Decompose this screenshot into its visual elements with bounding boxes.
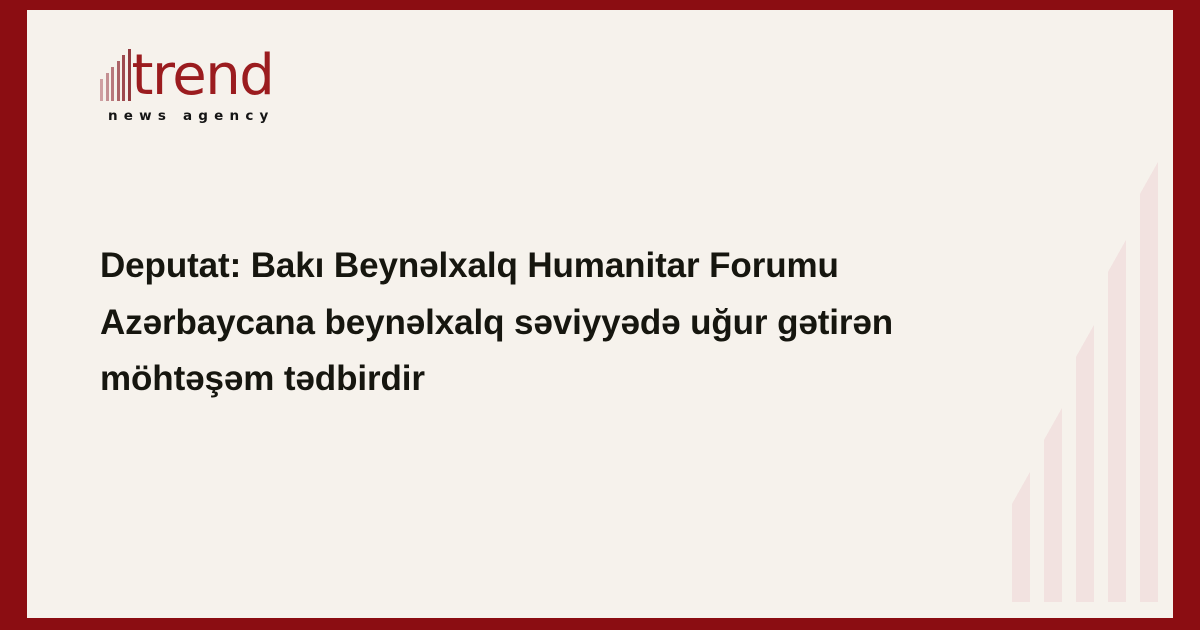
- logo-wordmark: trend: [132, 50, 274, 102]
- watermark-bar: [1140, 194, 1158, 602]
- card-canvas: trend news agency Deputat: Bakı Beynəlxa…: [27, 10, 1173, 618]
- watermark-bar: [1012, 504, 1030, 602]
- watermark-bar: [1044, 440, 1062, 602]
- logo-tagline: news agency: [108, 108, 335, 124]
- ascending-bars-watermark-icon: [1012, 170, 1167, 602]
- watermark-bar: [1076, 357, 1094, 602]
- logo-row: trend: [100, 40, 335, 102]
- social-share-card: trend news agency Deputat: Bakı Beynəlxa…: [0, 0, 1200, 630]
- ascending-bars-icon: [100, 45, 131, 102]
- article-headline: Deputat: Bakı Beynəlxalq Humanitar Forum…: [100, 238, 980, 408]
- watermark-bar: [1108, 272, 1126, 602]
- brand-logo[interactable]: trend news agency: [100, 40, 335, 124]
